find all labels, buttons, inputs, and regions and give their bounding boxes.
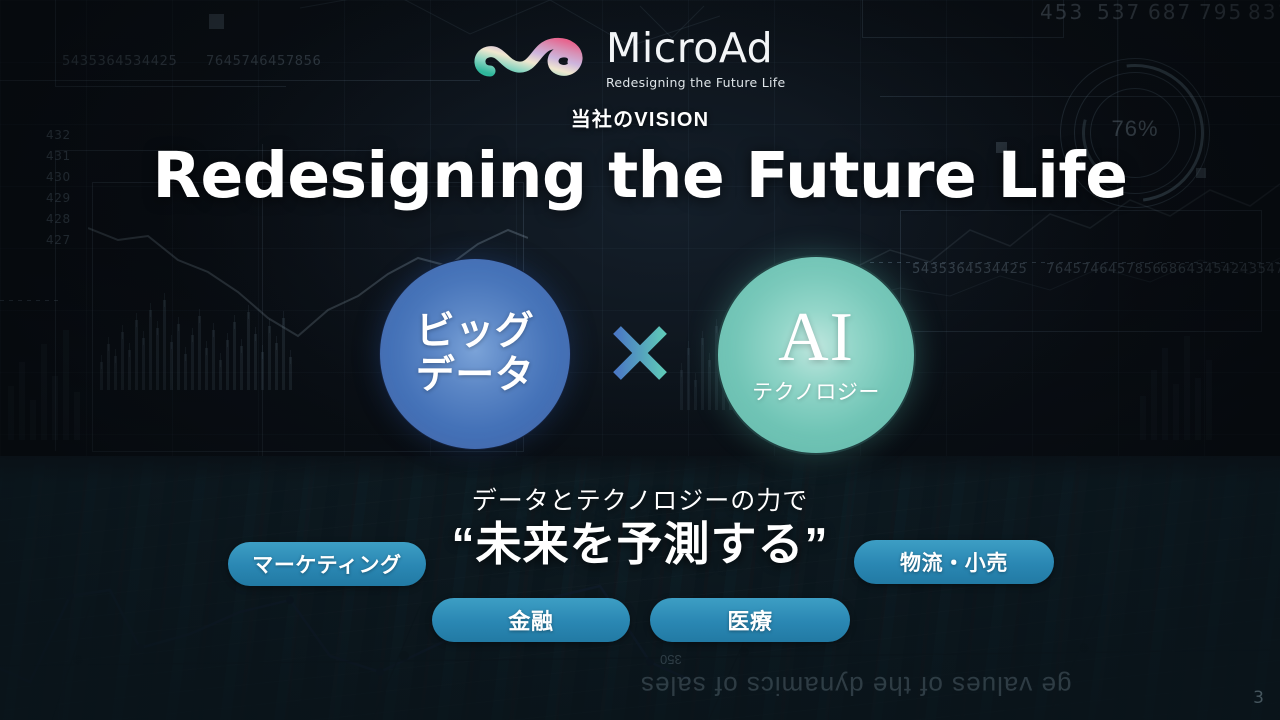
multiply-icon	[607, 320, 673, 386]
ai-subtitle: テクノロジー	[752, 376, 880, 406]
vision-label: 当社のVISION	[0, 103, 1280, 132]
brand-tagline: Redesigning the Future Life	[606, 75, 785, 90]
ai-title: AI	[778, 304, 854, 373]
brand-name: MicroAd	[606, 28, 785, 69]
slide-foreground: MicroAd Redesigning the Future Life 当社のV…	[0, 0, 1280, 720]
domain-pill-finance[interactable]: 金融	[432, 598, 630, 642]
domain-pill-medical[interactable]: 医療	[650, 598, 850, 642]
domain-pill-finance-label: 金融	[508, 604, 553, 636]
bigdata-circle[interactable]: ビッグ データ	[379, 258, 571, 450]
bigdata-label-line1: ビッグ	[416, 310, 535, 354]
brand-logo: MicroAd Redesigning the Future Life	[474, 28, 814, 90]
microad-infinity-ribbon-logo-icon	[474, 31, 592, 87]
domain-pill-logistics[interactable]: 物流・小売	[854, 540, 1054, 584]
domain-pill-marketing[interactable]: マーケティング	[228, 542, 426, 586]
domain-pill-medical-label: 医療	[727, 604, 772, 636]
ai-circle[interactable]: AI テクノロジー	[716, 255, 916, 455]
brand-logo-text: MicroAd Redesigning the Future Life	[606, 28, 785, 90]
domain-pill-marketing-label: マーケティング	[252, 549, 402, 579]
message-quote: “未来を予測する”	[0, 508, 1280, 574]
bigdata-label-line2: データ	[416, 354, 535, 398]
slide-root: 5435364534425 7645746457856 543536453442…	[0, 0, 1280, 720]
domain-pill-logistics-label: 物流・小売	[900, 547, 1008, 577]
page-title: Redesigning the Future Life	[0, 139, 1280, 212]
page-number: 3	[1253, 688, 1264, 708]
